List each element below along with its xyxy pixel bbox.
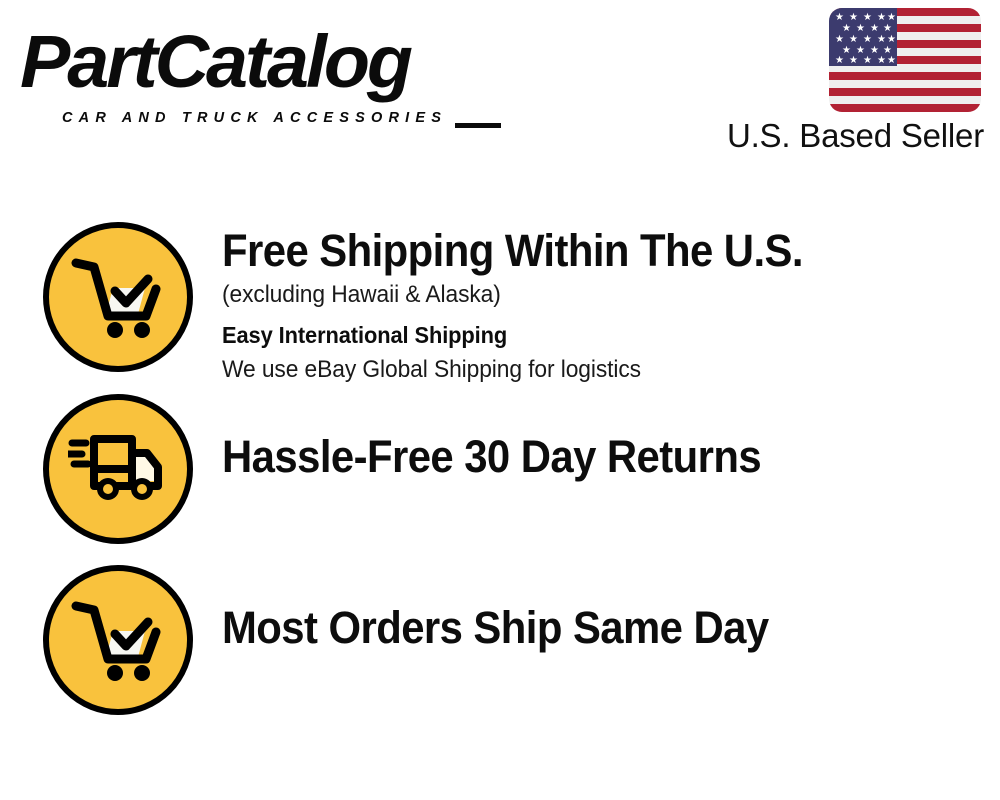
feature-row: Free Shipping Within The U.S. (excluding… xyxy=(0,210,1000,382)
feature-row: Most Orders Ship Same Day xyxy=(0,553,1000,725)
logo-tagline: CAR AND TRUCK ACCESSORIES xyxy=(62,110,447,126)
page-header: PartCatalog CAR AND TRUCK ACCESSORIES ★ … xyxy=(0,0,1000,175)
feature-text-block: Hassle-Free 30 Day Returns xyxy=(222,430,982,484)
feature-row: Hassle-Free 30 Day Returns xyxy=(0,382,1000,554)
us-flag-icon: ★ ★ ★ ★ ★ ★ ★ ★ ★ ★ ★ ★ ★ ★ ★ ★ ★ ★ ★ ★ xyxy=(829,8,981,112)
feature-title: Free Shipping Within The U.S. xyxy=(222,224,929,278)
us-based-seller-label: U.S. Based Seller xyxy=(694,116,984,156)
feature-title: Hassle-Free 30 Day Returns xyxy=(222,430,929,484)
feature-subtitle: (excluding Hawaii & Alaska) xyxy=(222,278,944,311)
feature-text-block: Most Orders Ship Same Day xyxy=(222,601,982,655)
logo-wordmark: PartCatalog xyxy=(20,16,410,108)
partcatalog-logo: PartCatalog CAR AND TRUCK ACCESSORIES xyxy=(20,22,490,122)
flag-canton: ★ ★ ★ ★ ★ ★ ★ ★ ★ ★ ★ ★ ★ ★ ★ ★ ★ ★ ★ ★ xyxy=(829,8,897,66)
delivery-truck-icon xyxy=(43,394,193,544)
logo-underline-rule xyxy=(455,123,501,128)
cart-check-icon xyxy=(43,222,193,372)
cart-check-icon xyxy=(43,565,193,715)
feature-text-block: Free Shipping Within The U.S. (excluding… xyxy=(222,224,982,386)
feature-title: Most Orders Ship Same Day xyxy=(222,601,929,655)
us-based-seller-badge: ★ ★ ★ ★ ★ ★ ★ ★ ★ ★ ★ ★ ★ ★ ★ ★ ★ ★ ★ ★ xyxy=(694,8,984,160)
feature-subtitle-strong: Easy International Shipping xyxy=(222,317,944,353)
